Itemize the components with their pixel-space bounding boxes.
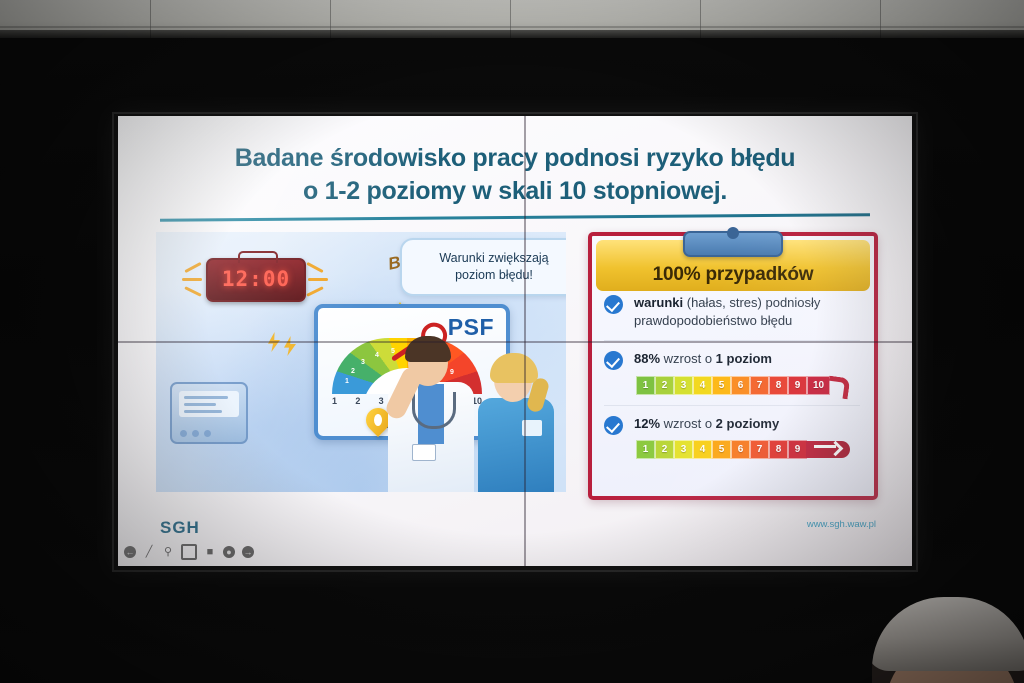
video-wall: Badane środowisko pracy podnosi ryzyko b… — [112, 112, 918, 572]
statistics-clipboard: 100% przypadków warunki (hałas, stres) p… — [588, 232, 878, 500]
row-1-bold: 88% — [634, 351, 660, 366]
title-line-2: o 1-2 poziomy w skali 10 stopniowej. — [158, 175, 872, 208]
scale-10-levels: 1 2 3 4 5 6 7 8 9 10 — [636, 374, 862, 396]
check-icon — [604, 295, 623, 314]
pen-icon[interactable]: ╱ — [143, 546, 155, 558]
back-arrow-icon[interactable]: ← — [124, 546, 136, 558]
nurse-figure — [478, 358, 554, 492]
straight-arrow-icon — [806, 441, 850, 458]
title-divider — [160, 213, 870, 222]
closed-caption-icon[interactable] — [181, 544, 197, 560]
list-item: warunki (hałas, stres) podniosły prawdop… — [604, 294, 862, 331]
clock-time: 12:00 — [208, 267, 304, 291]
forward-arrow-icon[interactable]: → — [242, 546, 254, 558]
clipboard-rows: warunki (hałas, stres) podniosły prawdop… — [604, 294, 862, 465]
room-scene: Badane środowisko pracy podnosi ryzyko b… — [0, 0, 1024, 683]
row-2-bold: 12% — [634, 416, 660, 431]
check-icon — [604, 416, 623, 435]
sgh-logo: SGH — [160, 518, 200, 538]
bubble-line-2: poziom błędu! — [410, 267, 566, 284]
list-item: 88% wzrost o 1 poziom 1 2 3 4 5 6 7 8 9 … — [604, 350, 862, 396]
video-icon[interactable]: ■ — [204, 546, 216, 558]
footer-url: www.sgh.waw.pl — [807, 519, 876, 530]
curved-arrow-icon — [828, 374, 854, 396]
page-title: Badane środowisko pracy podnosi ryzyko b… — [158, 142, 872, 207]
clipboard-clamp-icon — [683, 231, 783, 257]
presentation-slide: Badane środowisko pracy podnosi ryzyko b… — [118, 116, 912, 566]
check-icon — [604, 351, 623, 370]
clipboard-header: 100% przypadków — [596, 240, 870, 291]
title-line-1: Badane środowisko pracy podnosi ryzyko b… — [158, 142, 872, 175]
list-item: 12% wzrost o 2 poziomy 1 2 3 4 5 6 7 8 9 — [604, 415, 862, 458]
presentation-toolbar[interactable]: ← ╱ ⚲ ■ ● → — [124, 544, 254, 560]
tablet-label: PSF — [448, 314, 494, 341]
divider — [604, 405, 860, 406]
audience-member-head — [872, 597, 1024, 683]
doctor-figure — [388, 340, 474, 492]
row-1-bold2: 1 poziom — [716, 351, 772, 366]
row-0-bold: warunki — [634, 295, 683, 310]
row-2-rest: wzrost o — [660, 416, 716, 431]
scale-9-levels: 1 2 3 4 5 6 7 8 9 — [636, 440, 862, 459]
speech-icon[interactable]: ● — [223, 546, 235, 558]
illustration: 12:00 BEEP RING ! PSF 1 2 3 — [156, 232, 566, 492]
patient-monitor — [170, 382, 248, 444]
row-1-rest: wzrost o — [660, 351, 716, 366]
bubble-line-1: Warunki zwiększają — [410, 250, 566, 267]
speech-bubble: Warunki zwiększają poziom błędu! — [400, 238, 566, 296]
magnifier-icon[interactable]: ⚲ — [162, 546, 174, 558]
clipboard-header-label: 100% przypadków — [653, 264, 814, 286]
row-2-bold2: 2 poziomy — [716, 416, 780, 431]
alarm-clock: 12:00 — [206, 258, 306, 302]
